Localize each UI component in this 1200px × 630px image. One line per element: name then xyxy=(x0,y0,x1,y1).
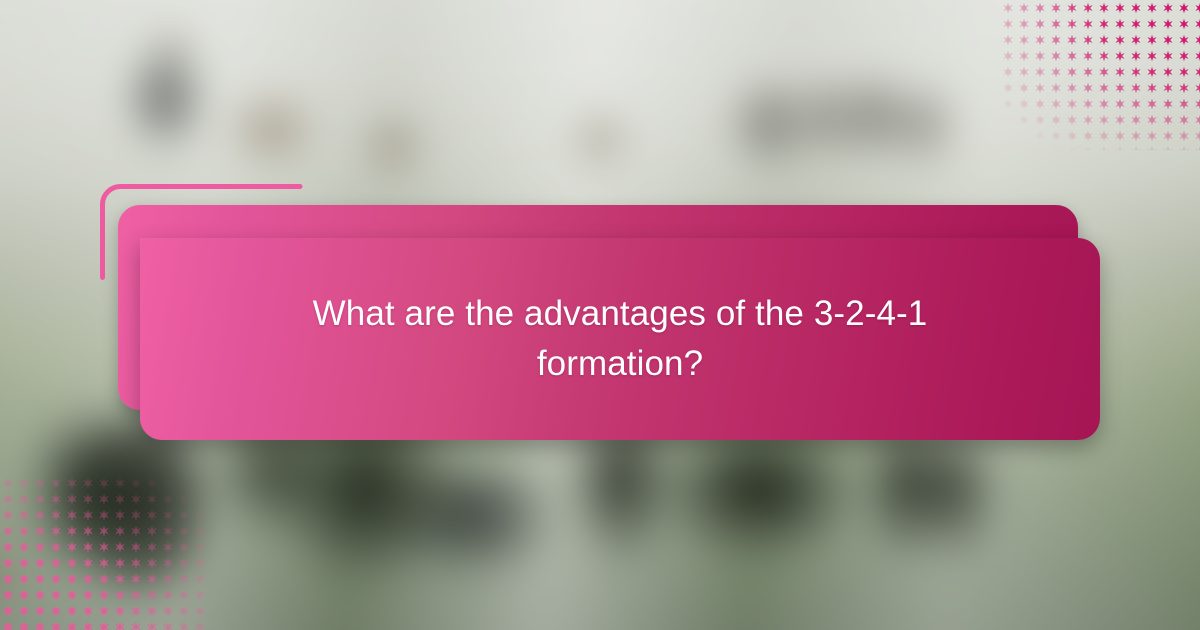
screenshot-stage: What are the advantages of the 3-2-4-1 f… xyxy=(0,0,1200,630)
question-title: What are the advantages of the 3-2-4-1 f… xyxy=(270,289,970,388)
question-card[interactable]: What are the advantages of the 3-2-4-1 f… xyxy=(140,238,1100,440)
